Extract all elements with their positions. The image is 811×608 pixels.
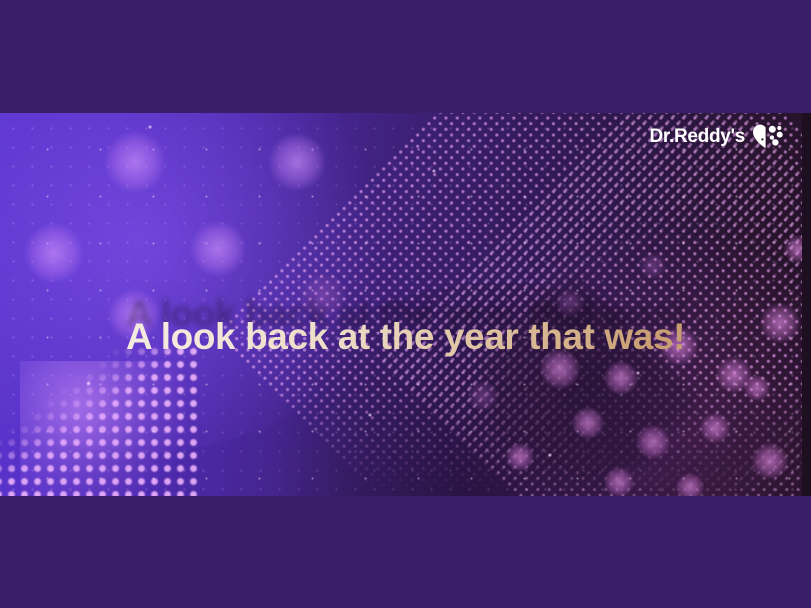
logo-wordmark: Dr.Reddy's: [650, 127, 746, 146]
page-root: A look back at the year that was! A look…: [0, 0, 811, 608]
page-title: A look back at the year that was!: [0, 316, 811, 358]
dot-triangle-pattern: [0, 345, 202, 496]
brand-logo[interactable]: Dr.Reddy's: [650, 124, 784, 149]
banner-edge-strip: [802, 113, 811, 496]
hero-banner: A look back at the year that was! A look…: [0, 113, 811, 496]
heart-with-dots-icon: [752, 124, 783, 149]
